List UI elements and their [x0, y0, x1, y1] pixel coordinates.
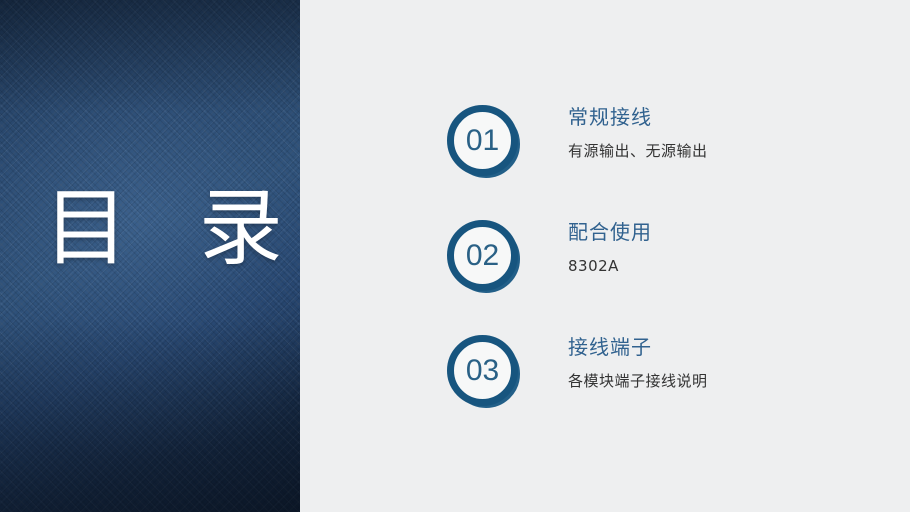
toc-number: 02 — [447, 220, 518, 291]
number-circle-badge: 01 — [447, 105, 523, 183]
number-circle-badge: 02 — [447, 220, 523, 298]
toc-entry-text: 配合使用 8302A — [568, 217, 652, 276]
toc-entry-03[interactable]: 03 接线端子 各模块端子接线说明 — [447, 332, 877, 422]
left-title-panel: 目 录 — [0, 0, 300, 512]
toc-number: 03 — [447, 335, 518, 406]
toc-entry-01[interactable]: 01 常规接线 有源输出、无源输出 — [447, 102, 877, 192]
toc-number: 01 — [447, 105, 518, 176]
toc-subtitle: 有源输出、无源输出 — [568, 141, 708, 161]
toc-heading: 常规接线 — [568, 104, 708, 130]
page-title: 目 录 — [44, 186, 284, 270]
number-circle-badge: 03 — [447, 335, 523, 413]
toc-entry-text: 接线端子 各模块端子接线说明 — [568, 332, 708, 391]
toc-content-area: 01 常规接线 有源输出、无源输出 02 配合使用 8302A — [300, 0, 910, 512]
toc-entry-02[interactable]: 02 配合使用 8302A — [447, 217, 877, 307]
toc-entry-text: 常规接线 有源输出、无源输出 — [568, 102, 708, 161]
presentation-slide: 目 录 01 常规接线 有源输出、无源输出 02 配合使用 — [0, 0, 910, 512]
toc-subtitle: 8302A — [568, 256, 652, 276]
toc-subtitle: 各模块端子接线说明 — [568, 371, 708, 391]
toc-heading: 接线端子 — [568, 334, 708, 360]
toc-heading: 配合使用 — [568, 219, 652, 245]
